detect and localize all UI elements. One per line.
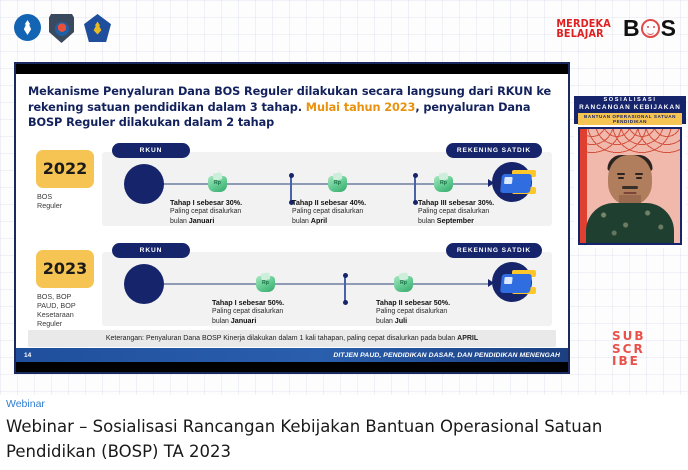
phase-2022-3-line2: Paling cepat disalurkan — [418, 207, 528, 216]
presentation-slide: Mekanisme Penyaluran Dana BOS Reguler di… — [14, 62, 570, 374]
rekening-satdik-card-icon-2023 — [492, 262, 536, 306]
slide-title-highlight: Mulai tahun 2023 — [306, 101, 416, 114]
phase-2022-1-line2: Paling cepat disalurkan — [170, 207, 280, 216]
slide-logo-bar: MERDEKA BELAJAR B S — [0, 10, 688, 52]
year-badge-2022: 2022 — [36, 150, 94, 188]
presenter-eye-left — [618, 177, 624, 180]
slide-top-bar — [16, 64, 568, 74]
phase-label-2023-2: Tahap II sebesar 50%. Paling cepat disal… — [376, 298, 486, 327]
presenter-batik-shirt — [586, 203, 674, 243]
phase-2022-1-line3: bulan Januari — [170, 216, 280, 226]
presenter-brow-right — [635, 173, 643, 175]
presenter-mouth — [624, 192, 637, 194]
shield-emblem-icon — [49, 14, 76, 44]
money-bag-icon-2023-t1: Rp — [256, 274, 275, 293]
phase-2023-1-line3: bulan Januari — [212, 316, 322, 326]
presenter-panel: SOSIALISASI RANCANGAN KEBIJAKAN BANTUAN … — [574, 96, 686, 248]
slide-body: Mekanisme Penyaluran Dana BOS Reguler di… — [16, 74, 568, 328]
right-logo-group: MERDEKA BELAJAR B S — [554, 15, 676, 42]
phase-2023-2-line2: Paling cepat disalurkan — [376, 307, 486, 316]
bos-logo: B S — [623, 15, 676, 42]
bos-letter-b: B — [623, 15, 640, 42]
year-subtitle-2022: BOSReguler — [37, 192, 101, 210]
flow-line-2023 — [160, 283, 492, 285]
phase-2022-2-line1: Tahap II sebesar 40%. — [292, 198, 402, 207]
timeline-tick-2023-a — [344, 276, 346, 302]
money-bag-icon-2023-t2: Rp — [394, 274, 413, 293]
rekening-satdik-pill-2022: REKENING SATDIK — [446, 143, 542, 158]
phase-label-2022-2: Tahap II sebesar 40%. Paling cepat disal… — [292, 198, 402, 227]
subscribe-line-3: IBE — [612, 355, 646, 368]
subscribe-watermark: SUB SCR IBE — [612, 330, 646, 368]
slide-page-number: 14 — [24, 352, 31, 359]
keterangan-month: APRIL — [457, 335, 478, 342]
tut-wuri-handayani-icon — [14, 14, 41, 44]
rkun-pill-2022: RKUN — [112, 143, 190, 158]
phase-label-2022-3: Tahap III sebesar 30%. Paling cepat disa… — [418, 198, 528, 227]
slide-title: Mekanisme Penyaluran Dana BOS Reguler di… — [28, 84, 556, 131]
timeline-row-2022: 2022 BOSReguler RKUN REKENING SATDIK Rp … — [28, 140, 556, 228]
subscribe-line-1: SUB — [612, 330, 646, 343]
keterangan-note: Keterangan: Penyaluran Dana BOSP Kinerja… — [28, 330, 556, 347]
keterangan-text: Keterangan: Penyaluran Dana BOSP Kinerja… — [106, 335, 457, 342]
phase-2023-1-line2: Paling cepat disalurkan — [212, 307, 322, 316]
phase-2022-1-line1: Tahap I sebesar 30%. — [170, 198, 280, 207]
smiley-face-icon — [641, 19, 660, 38]
money-bag-icon-2022-t2: Rp — [328, 174, 347, 193]
merdeka-line-2: BELAJAR — [556, 29, 611, 39]
video-player-area[interactable]: MERDEKA BELAJAR B S Mekanisme Penyaluran… — [0, 0, 688, 395]
slide-footer-org: DITJEN PAUD, PENDIDIKAN DASAR, DAN PENDI… — [333, 352, 560, 359]
caption-title: Webinar – Sosialisasi Rancangan Kebijaka… — [6, 414, 682, 464]
phase-2022-3-line3: bulan September — [418, 216, 528, 226]
presenter-mustache — [622, 186, 638, 189]
phase-2023-2-line3: bulan Juli — [376, 316, 486, 326]
year-subtitle-2023: BOS, BOPPAUD, BOPKesetaraanReguler — [37, 292, 101, 329]
presenter-brow-left — [617, 173, 625, 175]
money-bag-icon-2022-t1: Rp — [208, 174, 227, 193]
presenter-person — [580, 159, 680, 243]
timeline-row-2023: 2023 BOS, BOPPAUD, BOPKesetaraanReguler … — [28, 240, 556, 328]
presenter-title-line-3: BANTUAN OPERASIONAL SATUAN PENDIDIKAN — [578, 113, 682, 125]
year-badge-2023: 2023 — [36, 250, 94, 288]
phase-2023-2-line1: Tahap II sebesar 50%. — [376, 298, 486, 307]
rkun-pill-2023: RKUN — [112, 243, 190, 258]
phase-2022-2-line3: bulan April — [292, 216, 402, 226]
phase-2023-1-line1: Tahap I sebesar 50%. — [212, 298, 322, 307]
left-logo-group — [14, 14, 111, 44]
caption-kicker[interactable]: Webinar — [6, 398, 682, 410]
phase-2022-2-line2: Paling cepat disalurkan — [292, 207, 402, 216]
presenter-title-banner: SOSIALISASI RANCANGAN KEBIJAKAN BANTUAN … — [574, 96, 686, 124]
phase-2022-3-line1: Tahap III sebesar 30%. — [418, 198, 528, 207]
slide-bottom-bar — [16, 362, 568, 372]
rkun-node-2022 — [124, 164, 164, 204]
presenter-eye-right — [636, 177, 642, 180]
phase-label-2022-1: Tahap I sebesar 30%. Paling cepat disalu… — [170, 198, 280, 227]
presenter-title-line-1: SOSIALISASI — [603, 97, 656, 103]
presenter-webcam-feed — [578, 127, 682, 245]
presenter-title-line-2: RANCANGAN KEBIJAKAN — [579, 104, 681, 111]
rkun-node-2023 — [124, 264, 164, 304]
bos-letter-s: S — [661, 15, 676, 42]
merdeka-belajar-logo: MERDEKA BELAJAR — [556, 19, 611, 39]
screenshot-root: MERDEKA BELAJAR B S Mekanisme Penyaluran… — [0, 0, 688, 470]
phase-label-2023-1: Tahap I sebesar 50%. Paling cepat disalu… — [212, 298, 322, 327]
pentagon-emblem-icon — [84, 14, 111, 44]
timeline-tick-2022-b — [414, 176, 416, 202]
video-caption: Webinar Webinar – Sosialisasi Rancangan … — [6, 398, 682, 464]
slide-footer: 14 DITJEN PAUD, PENDIDIKAN DASAR, DAN PE… — [16, 348, 568, 362]
money-bag-icon-2022-t3: Rp — [434, 174, 453, 193]
rekening-satdik-pill-2023: REKENING SATDIK — [446, 243, 542, 258]
